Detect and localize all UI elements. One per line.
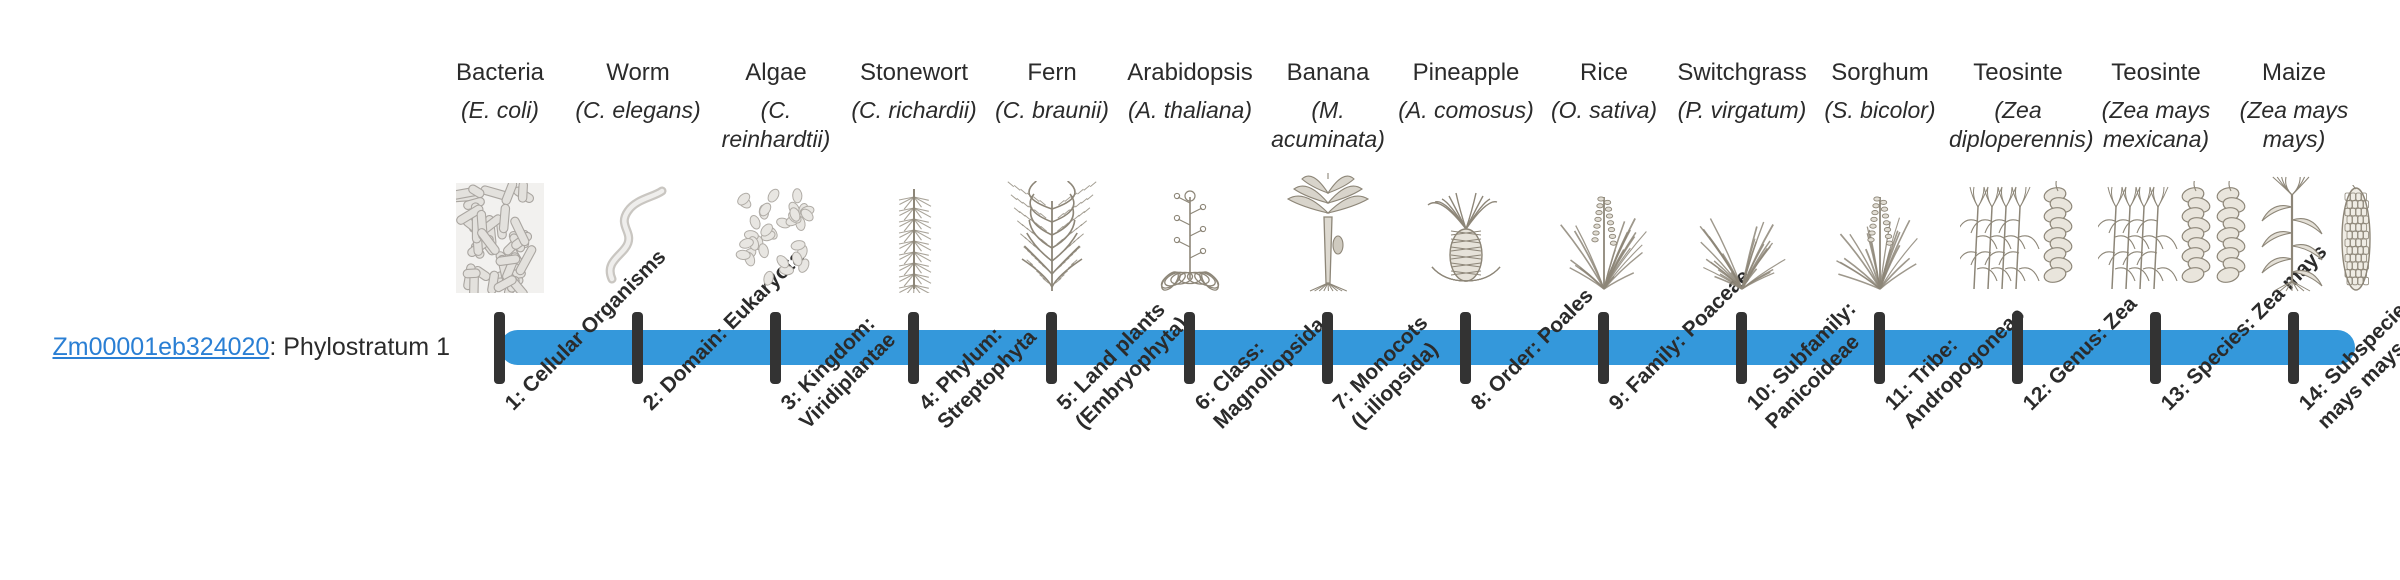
species-common-name: Rice [1535,58,1673,88]
species-common-name: Banana [1259,58,1397,88]
species-common-name: Worm [569,58,707,88]
species-name-block: Pineapple(A. comosus) [1397,58,1535,125]
species-name-block: Algae(C. reinhardtii) [707,58,845,154]
species-name-block: Stonewort(C. richardii) [845,58,983,125]
species-scientific-name: (C. richardii) [845,96,983,125]
species-column-8: Pineapple(A. comosus)8: Order: Poales [1397,0,1535,580]
species-scientific-name: (E. coli) [431,96,569,125]
species-scientific-name: (Zea mays mexicana) [2087,96,2225,154]
species-scientific-name: (M. acuminata) [1259,96,1397,154]
species-name-block: Switchgrass(P. virgatum) [1673,58,1811,125]
species-scientific-name: (O. sativa) [1535,96,1673,125]
species-column-7: Banana(M. acuminata)7: Monocots (Liliops… [1259,0,1397,580]
phylostratum-tick-12 [2012,312,2023,384]
species-common-name: Stonewort [845,58,983,88]
species-column-10: Switchgrass(P. virgatum)10: Subfamily: P… [1673,0,1811,580]
species-name-block: Teosinte(Zea mays mexicana) [2087,58,2225,154]
species-name-block: Arabidopsis(A. thaliana) [1121,58,1259,125]
maize-illustration [2225,168,2363,293]
species-column-6: Arabidopsis(A. thaliana)6: Class: Magnol… [1121,0,1259,580]
species-common-name: Bacteria [431,58,569,88]
species-common-name: Pineapple [1397,58,1535,88]
phylostratum-tick-8 [1460,312,1471,384]
phylostratum-tick-7 [1322,312,1333,384]
species-column-12: Teosinte(Zea diploperennis)12: Genus: Ze… [1949,0,2087,580]
species-column-9: Rice(O. sativa)9: Family: Poaceae [1535,0,1673,580]
species-scientific-name: (C. elegans) [569,96,707,125]
pineapple-illustration [1397,168,1535,293]
species-column-2: Worm(C. elegans)2: Domain: Eukaryota [569,0,707,580]
species-common-name: Teosinte [2087,58,2225,88]
phylostratum-tick-6 [1184,312,1195,384]
species-common-name: Switchgrass [1673,58,1811,88]
teosinte-mexicana-illustration [2087,168,2225,293]
algae-illustration [707,168,845,293]
species-scientific-name: (C. braunii) [983,96,1121,125]
gene-id-link[interactable]: Zm00001eb324020 [52,333,269,361]
gene-phylostratum-label: Zm00001eb324020: Phylostratum 1 [30,332,450,362]
species-scientific-name: (P. virgatum) [1673,96,1811,125]
phylostratum-tick-14 [2288,312,2299,384]
species-scientific-name: (Zea diploperennis) [1949,96,2087,154]
phylostratum-tick-13 [2150,312,2161,384]
species-scientific-name: (S. bicolor) [1811,96,1949,125]
species-column-11: Sorghum(S. bicolor)11: Tribe: Andropogon… [1811,0,1949,580]
species-scientific-name: (C. reinhardtii) [707,96,845,154]
switchgrass-illustration [1673,168,1811,293]
phylostratum-tick-1 [494,312,505,384]
species-column-1: Bacteria(E. coli)1: Cellular Organisms [431,0,569,580]
species-column-13: Teosinte(Zea mays mexicana)13: Species: … [2087,0,2225,580]
phylostratum-tick-3 [770,312,781,384]
species-name-block: Maize(Zea mays mays) [2225,58,2363,154]
species-common-name: Sorghum [1811,58,1949,88]
phylostratum-tick-5 [1046,312,1057,384]
phylostratum-tick-11 [1874,312,1885,384]
teosinte-diploperennis-illustration [1949,168,2087,293]
phylostratum-tick-10 [1736,312,1747,384]
phylostratigraphy-figure: Zm00001eb324020: Phylostratum 1 Bacteria… [0,0,2400,580]
species-common-name: Algae [707,58,845,88]
sorghum-illustration [1811,168,1949,293]
species-name-block: Teosinte(Zea diploperennis) [1949,58,2087,154]
species-column-3: Algae(C. reinhardtii)3: Kingdom: Viridip… [707,0,845,580]
stonewort-illustration [845,168,983,293]
phylostratum-tick-2 [632,312,643,384]
rice-illustration [1535,168,1673,293]
species-common-name: Teosinte [1949,58,2087,88]
worm-illustration [569,168,707,293]
species-scientific-name: (A. comosus) [1397,96,1535,125]
banana-illustration [1259,168,1397,293]
species-name-block: Rice(O. sativa) [1535,58,1673,125]
species-common-name: Fern [983,58,1121,88]
phylostratum-tick-4 [908,312,919,384]
species-name-block: Sorghum(S. bicolor) [1811,58,1949,125]
fern-illustration [983,168,1121,293]
phylostratum-tick-9 [1598,312,1609,384]
species-column-5: Fern(C. braunii)5: Land plants (Embryoph… [983,0,1121,580]
phylostratum-value: Phylostratum 1 [283,333,450,361]
species-name-block: Worm(C. elegans) [569,58,707,125]
species-scientific-name: (Zea mays mays) [2225,96,2363,154]
species-common-name: Maize [2225,58,2363,88]
arabidopsis-illustration [1121,168,1259,293]
species-name-block: Fern(C. braunii) [983,58,1121,125]
species-column-14: Maize(Zea mays mays)14: Subspecies: Zea … [2225,0,2363,580]
species-common-name: Arabidopsis [1121,58,1259,88]
species-scientific-name: (A. thaliana) [1121,96,1259,125]
species-name-block: Banana(M. acuminata) [1259,58,1397,154]
species-name-block: Bacteria(E. coli) [431,58,569,125]
gene-label-separator: : [269,333,283,361]
bacteria-illustration [431,168,569,293]
species-column-4: Stonewort(C. richardii)4: Phylum: Strept… [845,0,983,580]
